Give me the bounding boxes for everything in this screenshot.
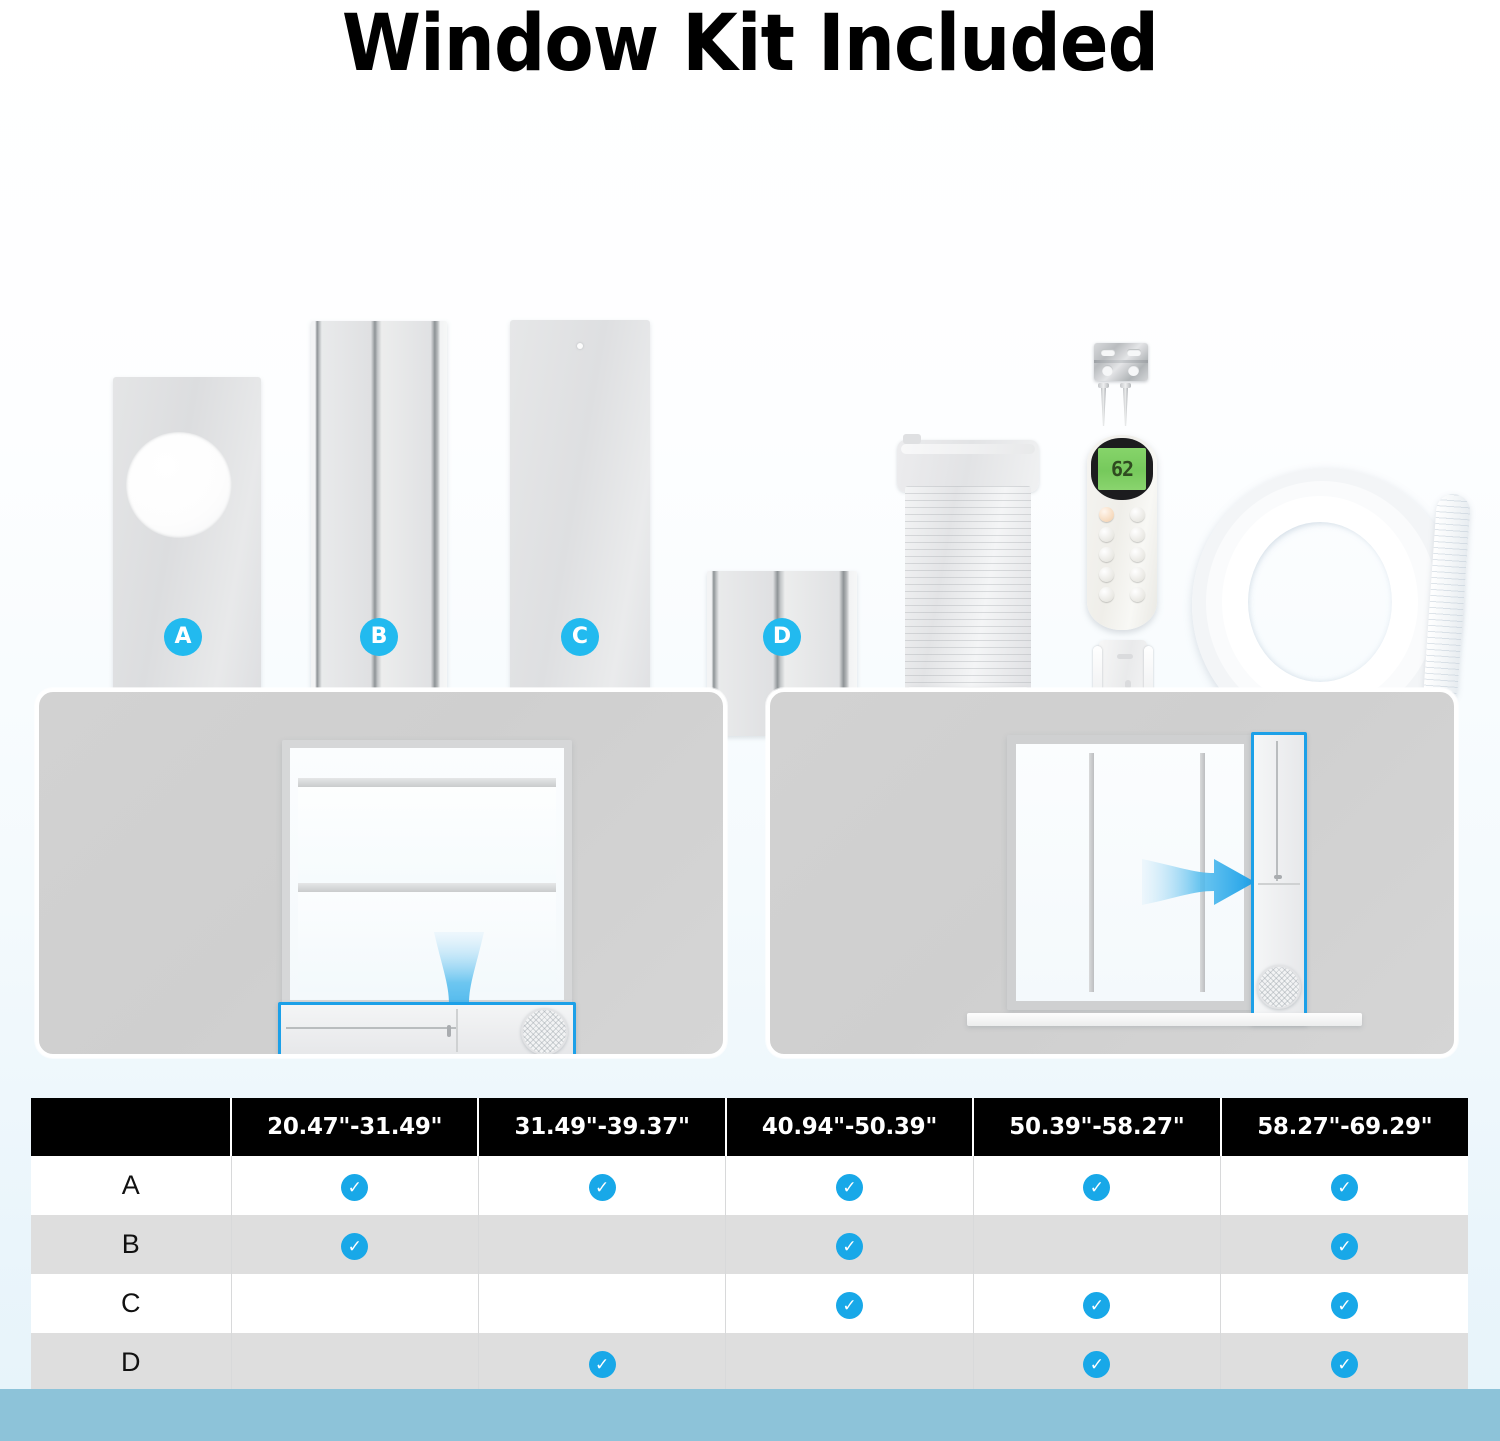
remote-screen: 62 (1091, 438, 1153, 500)
check-icon: ✓ (341, 1174, 368, 1201)
table-cell: ✓ (1221, 1156, 1468, 1215)
security-bracket (1094, 343, 1148, 381)
table-row: B ✓ ✓ ✓ (31, 1215, 1468, 1274)
table-corner-cell (31, 1098, 231, 1156)
check-icon: ✓ (1083, 1292, 1110, 1319)
installation-illustrations (0, 688, 1500, 1063)
screw-head (1120, 383, 1131, 388)
kit-seam (1276, 741, 1278, 881)
kit-lock-knob (447, 1025, 451, 1037)
power-icon (1099, 507, 1114, 522)
table-col-header-2: 31.49"-39.37" (478, 1098, 725, 1156)
window-sill (212, 1057, 650, 1058)
table-cell: ✓ (973, 1274, 1220, 1333)
window-sash-rail (298, 778, 556, 787)
table-row-label: B (31, 1215, 231, 1274)
table-row-label: D (31, 1333, 231, 1392)
minus-icon (1130, 527, 1145, 542)
table-row: D ✓ ✓ ✓ (31, 1333, 1468, 1392)
kit-divider (1258, 883, 1300, 885)
window-frame (282, 740, 572, 1008)
kit-divider (456, 1009, 458, 1052)
check-icon: ✓ (1331, 1174, 1358, 1201)
screw-shaft (1123, 388, 1128, 426)
table-cell (478, 1274, 725, 1333)
part-c-extension-panel (510, 320, 650, 735)
table-cell: ✓ (478, 1333, 725, 1392)
swing-icon (1099, 567, 1114, 582)
table-cell: ✓ (726, 1215, 973, 1274)
table-col-header-5: 58.27"-69.29" (1221, 1098, 1468, 1156)
hose-tab (903, 434, 921, 444)
check-icon: ✓ (1083, 1351, 1110, 1378)
remote-temperature-value: 62 (1111, 459, 1133, 479)
mode-icon (1099, 527, 1114, 542)
kit-seam (286, 1027, 456, 1029)
window-sill (967, 1013, 1362, 1026)
wifi-icon (1099, 587, 1114, 602)
remote-control: 62 (1087, 435, 1157, 630)
table-cell: ✓ (1221, 1215, 1468, 1274)
screw-head (1098, 383, 1109, 388)
arrow-right-icon (1142, 857, 1257, 907)
screw-shaft (1101, 388, 1106, 426)
table-cell: ✓ (726, 1156, 973, 1215)
sliding-window-diagram (1007, 735, 1307, 1025)
table-cell: ✓ (231, 1156, 478, 1215)
window-glass-upper (298, 787, 556, 883)
check-icon: ✓ (341, 1233, 368, 1260)
table-cell: ✓ (726, 1274, 973, 1333)
timer-icon (1130, 547, 1145, 562)
table-col-header-1: 20.47"-31.49" (231, 1098, 478, 1156)
hung-window-installation-panel (35, 688, 727, 1058)
table-col-header-4: 50.39"-58.27" (973, 1098, 1220, 1156)
window-kit-installed-horizontal (278, 1002, 576, 1058)
part-a-window-panel (113, 377, 261, 735)
part-badges: A B C D (0, 618, 1500, 664)
remote-button-grid (1095, 507, 1149, 602)
page-title: Window Kit Included (60, 4, 1440, 86)
bracket-hole (1102, 365, 1113, 376)
sleep-icon (1130, 567, 1145, 582)
parts-gallery: 62 (0, 150, 1500, 620)
table-cell: ✓ (1221, 1333, 1468, 1392)
kit-lock-knob (1274, 875, 1282, 879)
part-badge-b: B (360, 618, 398, 656)
table-header-row: 20.47"-31.49" 31.49"-39.37" 40.94"-50.39… (31, 1098, 1468, 1156)
table-cell (478, 1215, 725, 1274)
plus-icon (1130, 507, 1145, 522)
table-cell: ✓ (478, 1156, 725, 1215)
check-icon: ✓ (1331, 1233, 1358, 1260)
table-row: C ✓ ✓ ✓ (31, 1274, 1468, 1333)
table-col-header-3: 40.94"-50.39" (726, 1098, 973, 1156)
hose-tube (905, 486, 1031, 696)
window-kit-installed-vertical (1251, 732, 1307, 1024)
hose-port-hole (126, 432, 232, 538)
bracket-fold (1094, 360, 1148, 363)
fan-icon (1099, 547, 1114, 562)
window-mullion (1089, 753, 1094, 992)
check-icon: ✓ (589, 1174, 616, 1201)
remote-lcd: 62 (1098, 448, 1146, 490)
compatibility-table: 20.47"-31.49" 31.49"-39.37" 40.94"-50.39… (31, 1098, 1468, 1392)
hung-window-diagram (282, 740, 572, 1025)
check-icon: ✓ (589, 1351, 616, 1378)
light-icon (1130, 587, 1145, 602)
compatibility-table-wrapper: 20.47"-31.49" 31.49"-39.37" 40.94"-50.39… (31, 1098, 1468, 1392)
window-glass-lower (298, 892, 556, 992)
check-icon: ✓ (836, 1174, 863, 1201)
table-cell: ✓ (231, 1215, 478, 1274)
part-badge-d: D (763, 618, 801, 656)
kit-vent-port (521, 1008, 568, 1055)
bracket-hole (1128, 365, 1139, 376)
check-icon: ✓ (836, 1233, 863, 1260)
check-icon: ✓ (1331, 1292, 1358, 1319)
bracket-slot (1127, 349, 1141, 356)
table-cell: ✓ (973, 1333, 1220, 1392)
check-icon: ✓ (1083, 1174, 1110, 1201)
table-row-label: A (31, 1156, 231, 1215)
hose-coupler (897, 440, 1039, 492)
table-cell (231, 1274, 478, 1333)
window-sash-rail (298, 883, 556, 892)
part-badge-c: C (561, 618, 599, 656)
check-icon: ✓ (836, 1292, 863, 1319)
check-icon: ✓ (1331, 1351, 1358, 1378)
table-row: A ✓ ✓ ✓ ✓ ✓ (31, 1156, 1468, 1215)
table-body: A ✓ ✓ ✓ ✓ ✓ B ✓ ✓ ✓ C ✓ ✓ ✓ (31, 1156, 1468, 1392)
coil-ring-inner (1222, 496, 1418, 708)
bracket-slot (1101, 349, 1115, 356)
bottom-color-band (0, 1389, 1500, 1441)
sliding-window-installation-panel (766, 688, 1458, 1058)
table-cell: ✓ (1221, 1274, 1468, 1333)
panel-screw-dot (577, 343, 583, 349)
kit-vent-port (1257, 965, 1301, 1009)
part-b-slider-panel (311, 321, 447, 736)
part-badge-a: A (164, 618, 202, 656)
table-cell (231, 1333, 478, 1392)
table-cell: ✓ (973, 1156, 1220, 1215)
table-row-label: C (31, 1274, 231, 1333)
table-cell (726, 1333, 973, 1392)
table-cell (973, 1215, 1220, 1274)
